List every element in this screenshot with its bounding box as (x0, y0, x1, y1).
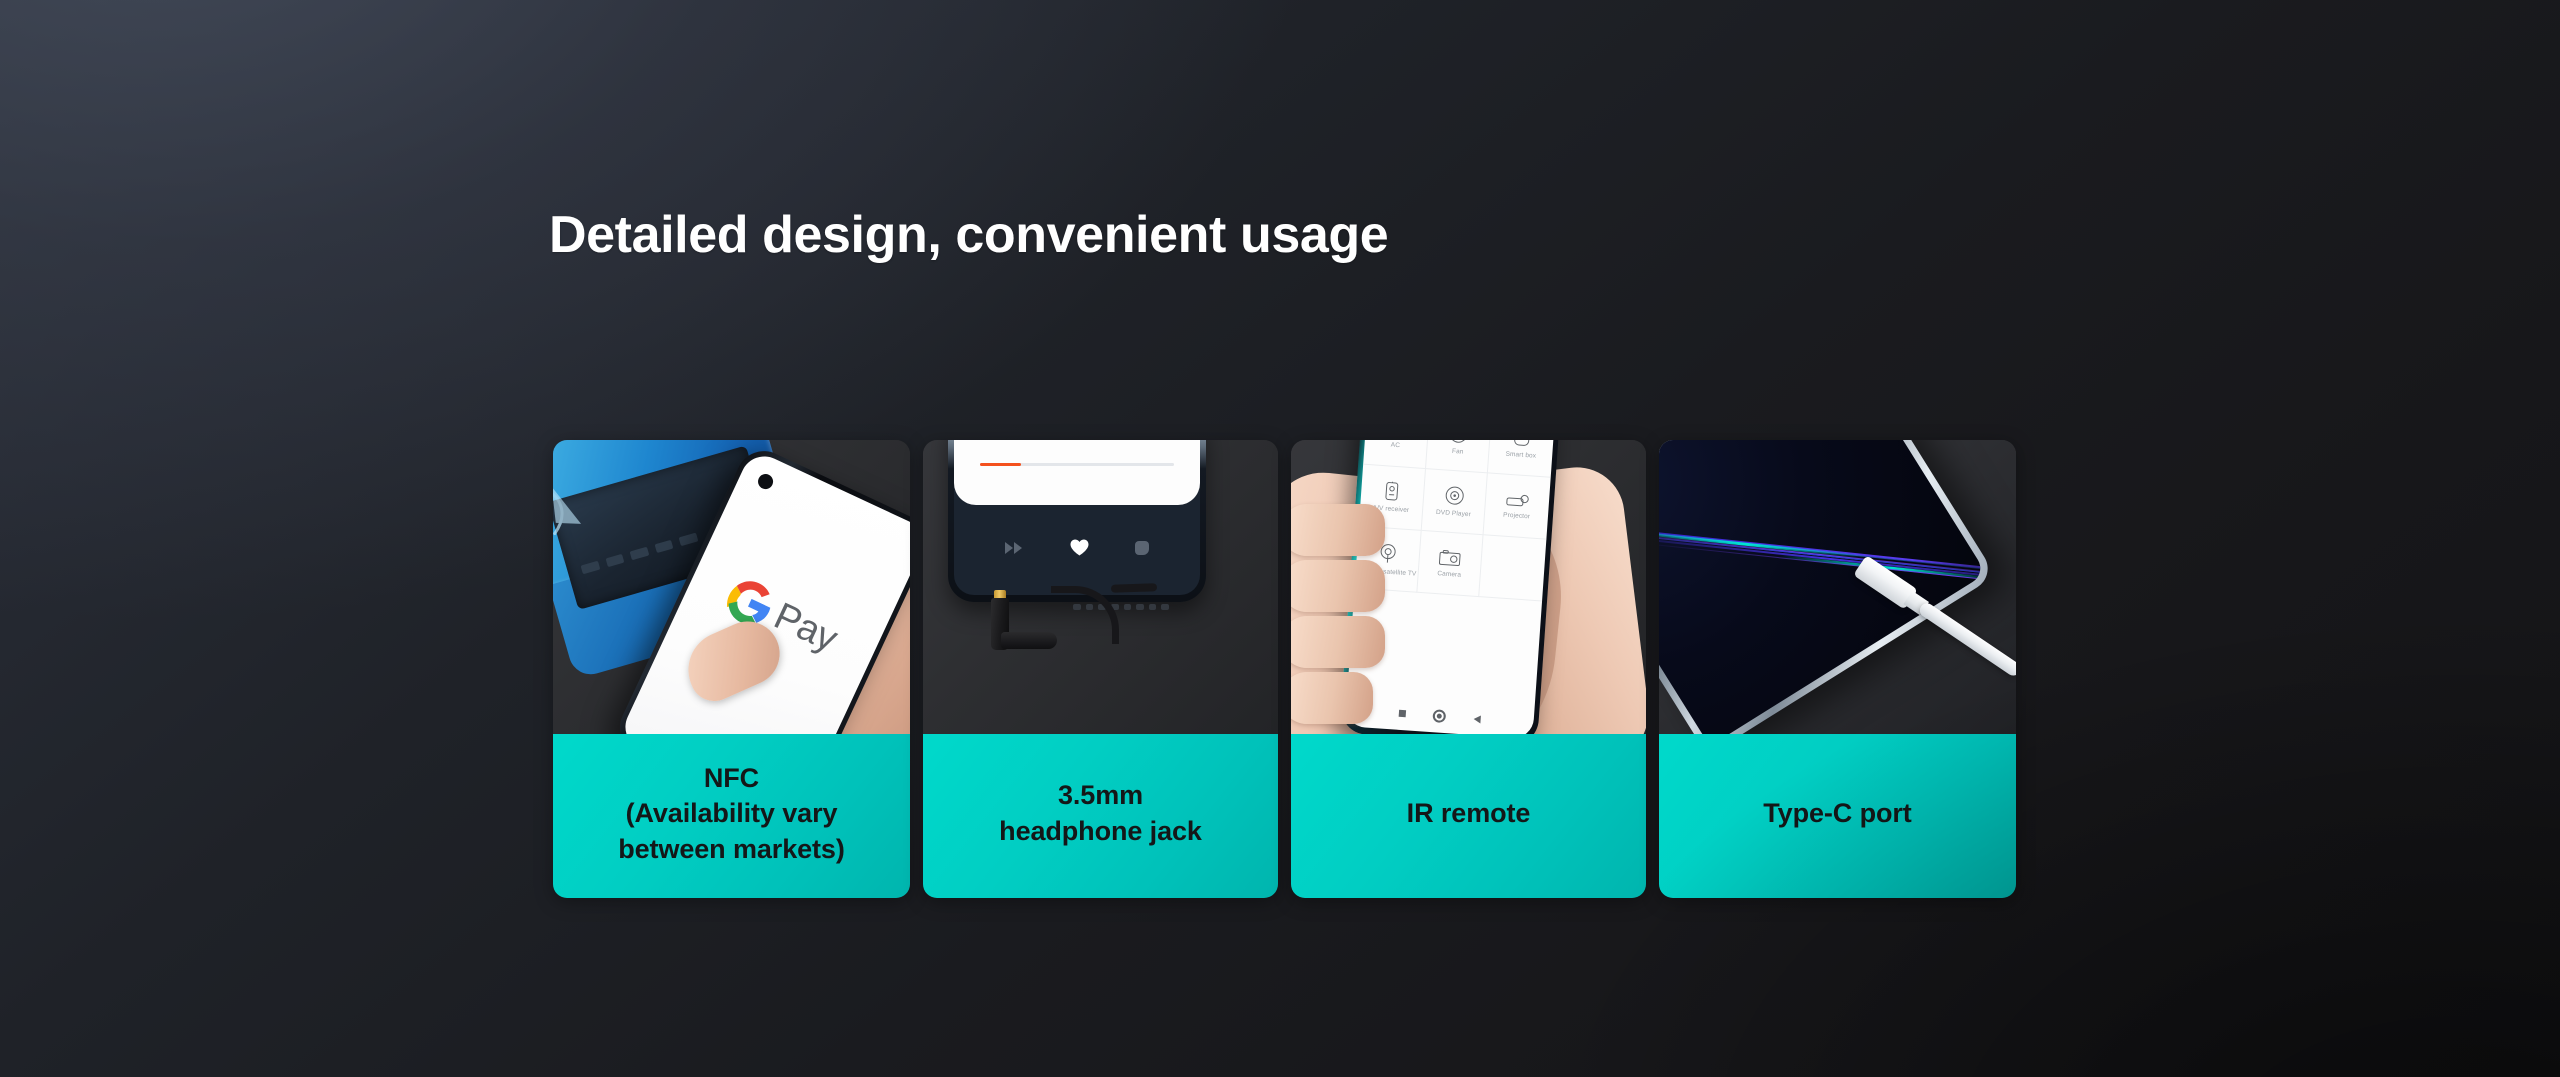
feature-card-headphone-jack[interactable]: 3.5mm headphone jack (923, 440, 1278, 898)
music-player-screen (954, 440, 1200, 595)
audio-cable-tail (1111, 583, 1157, 593)
ir-grid-item-camera[interactable]: Camera (1417, 531, 1484, 597)
ir-grid-label: Camera (1437, 570, 1461, 579)
home-circle-icon[interactable] (1435, 711, 1445, 721)
player-white-panel (954, 440, 1200, 505)
player-controls (954, 539, 1200, 556)
page-title: Detailed design, convenient usage (549, 205, 1388, 266)
ir-grid-item-dvd-player[interactable]: DVD Player (1421, 469, 1488, 535)
recents-square-icon[interactable] (1398, 710, 1405, 717)
playback-progress-bar[interactable] (980, 463, 1174, 466)
ir-remote-media: AC Fan (1291, 440, 1646, 734)
ir-grid-label: Smart box (1505, 451, 1536, 460)
fast-forward-icon[interactable] (1005, 542, 1025, 554)
nfc-media: Pay Google (553, 440, 910, 734)
nfc-caption: NFC (Availability vary between markets) (553, 734, 910, 898)
ir-grid-label: AC (1391, 441, 1401, 449)
rounded-square-icon[interactable] (1135, 541, 1149, 555)
phone-bottom-device (948, 440, 1206, 602)
type-c-media (1659, 440, 2016, 734)
dvd-player-icon (1445, 486, 1465, 506)
feature-card-nfc[interactable]: Pay Google NFC (Availability vary betwee… (553, 440, 910, 898)
heart-icon[interactable] (1070, 539, 1089, 556)
feature-card-row: Pay Google NFC (Availability vary betwee… (553, 440, 2016, 898)
ir-grid-label: Projector (1503, 511, 1530, 520)
feature-card-ir-remote[interactable]: AC Fan (1291, 440, 1646, 898)
ir-remote-caption: IR remote (1291, 734, 1646, 898)
jack-plug-arm (1001, 632, 1057, 649)
jack-caption-line1: 3.5mm (1058, 780, 1143, 810)
nfc-caption-line3: between markets) (618, 832, 845, 868)
ir-caption-line1: IR remote (1407, 798, 1531, 828)
ir-grid-item-smart-box[interactable]: Smart box (1488, 440, 1555, 478)
camera-icon (1439, 549, 1462, 566)
ir-grid-item-projector[interactable]: Projector (1484, 473, 1551, 539)
jack-caption-line2: headphone jack (999, 814, 1202, 850)
page-background: Detailed design, convenient usage (0, 0, 2560, 1077)
typec-caption-line1: Type-C port (1763, 798, 1911, 828)
ir-grid-item-fan[interactable]: Fan (1426, 440, 1493, 473)
feature-card-type-c-port[interactable]: Type-C port (1659, 440, 2016, 898)
type-c-caption: Type-C port (1659, 734, 2016, 898)
ir-grid-label: Fan (1452, 447, 1464, 455)
fan-icon (1449, 440, 1468, 443)
projector-icon (1505, 492, 1530, 508)
headphone-jack-media (923, 440, 1278, 734)
punch-hole-camera (756, 472, 776, 492)
av-receiver-icon (1385, 481, 1399, 501)
nfc-caption-line1: NFC (704, 763, 759, 793)
smart-box-icon (1513, 440, 1531, 447)
back-triangle-icon[interactable] (1474, 715, 1482, 723)
headphone-jack-caption: 3.5mm headphone jack (923, 734, 1278, 898)
nfc-caption-line2: (Availability vary (618, 796, 845, 832)
cable-wire (1917, 601, 2016, 679)
ir-grid-label: DVD Player (1436, 509, 1471, 518)
phone-device (1659, 440, 1996, 734)
ir-grid-item-empty (1480, 535, 1547, 601)
phone-screen-wallpaper (1659, 440, 1986, 734)
fingers (1291, 504, 1391, 734)
